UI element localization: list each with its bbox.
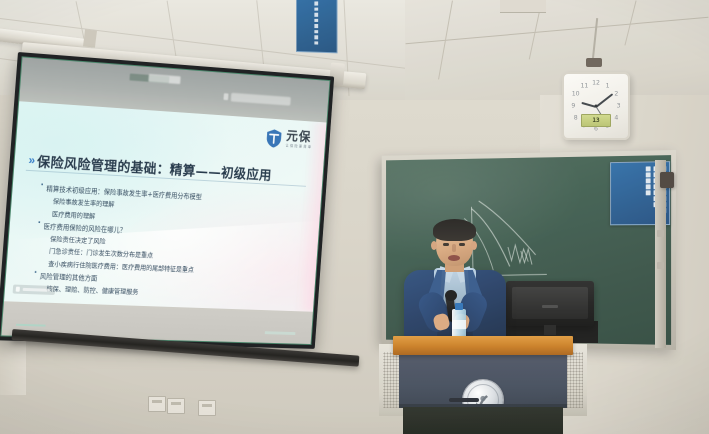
microphone-head — [445, 290, 457, 301]
clock-numeral: 3 — [617, 103, 621, 110]
ceiling-light-end-cap — [83, 29, 97, 47]
poster-text-column — [646, 166, 651, 220]
podium-base-shadow — [403, 407, 563, 434]
clock-face: 12 1 2 3 4 5 6 7 8 9 10 11 13 — [567, 77, 625, 135]
clock-center-pin — [595, 105, 598, 108]
podium-wooden-top — [393, 336, 573, 355]
clock-minute-hand — [596, 93, 614, 107]
track-knob — [657, 262, 664, 269]
nose — [452, 244, 456, 252]
chevron-right-icon: » — [28, 153, 33, 167]
ear-left — [431, 241, 437, 250]
slide-bullet-list: 精算技术初级应用：保险事故发生率+医疗费用分布模型 保险事故发生率的理解 医疗费… — [32, 183, 305, 305]
bottle-label — [452, 320, 466, 329]
track-knob — [657, 230, 664, 237]
projection-surface: 元保 让保险更简单 » 保险风险管理的基础：精算——初级应用 精算技术初级应用：… — [1, 57, 329, 344]
window-title-blur — [148, 74, 180, 84]
clock-numeral: 1 — [606, 82, 610, 89]
hair — [433, 219, 476, 241]
monitor-brand-mark — [542, 305, 558, 308]
eye-left — [443, 243, 449, 246]
projector-screen: 元保 让保险更简单 » 保险风险管理的基础：精算——初级应用 精算技术初级应用：… — [0, 52, 334, 349]
clock-numeral: 10 — [572, 91, 580, 98]
projection-artifact — [16, 324, 46, 327]
wall-hook — [660, 172, 674, 188]
classroom-photo: 元保 让保险更简单 » 保险风险管理的基础：精算——初级应用 精算技术初级应用：… — [0, 0, 709, 434]
clock-digital-display: 13 — [581, 114, 611, 127]
ear-right — [471, 241, 477, 250]
clock-numeral: 4 — [614, 114, 618, 121]
brand-subtitle: 让保险更简单 — [285, 145, 312, 150]
power-outlet — [198, 400, 216, 416]
clock-digital-value: 13 — [592, 117, 599, 124]
clock-numeral: 12 — [592, 80, 600, 87]
badge-icon — [16, 287, 20, 292]
monitor-panel-rear — [506, 281, 594, 326]
slide-title-row: » 保险风险管理的基础：精算——初级应用 — [28, 150, 273, 184]
clock-numeral: 2 — [614, 91, 618, 98]
clock-numeral: 9 — [571, 103, 575, 110]
badge-label — [23, 288, 51, 292]
wall-mount-bracket — [586, 58, 602, 67]
slide-brand-logo: 元保 让保险更简单 — [265, 128, 314, 151]
blackboard-slide-track — [655, 160, 666, 348]
monitor-back-housing — [512, 287, 588, 319]
shield-icon — [265, 128, 284, 149]
bottle-cap — [455, 303, 463, 310]
podium — [379, 336, 587, 434]
slide-watermark-badge — [13, 285, 56, 295]
presentation-slide: 元保 让保险更简单 » 保险风险管理的基础：精算——初级应用 精算技术初级应用：… — [4, 101, 326, 312]
eye-right — [459, 243, 465, 246]
ceiling-vent — [500, 0, 546, 13]
brand-name: 元保 — [286, 131, 314, 145]
wall-clock: 12 1 2 3 4 5 6 7 8 9 10 11 13 — [562, 72, 630, 140]
podium-cable-slot — [449, 398, 479, 402]
toolbar-icon-blur — [223, 93, 228, 100]
clock-numeral: 11 — [580, 82, 588, 89]
power-outlet — [148, 396, 166, 412]
blackboard-side-banner — [296, 0, 338, 53]
podium-front-panel — [399, 355, 567, 407]
slide-title: 保险风险管理的基础：精算——初级应用 — [36, 150, 272, 183]
power-outlet — [167, 398, 185, 414]
toolbar-label-blur — [231, 93, 291, 106]
projection-artifact — [265, 331, 296, 335]
clock-numeral: 8 — [574, 114, 578, 121]
mouth — [448, 255, 460, 261]
